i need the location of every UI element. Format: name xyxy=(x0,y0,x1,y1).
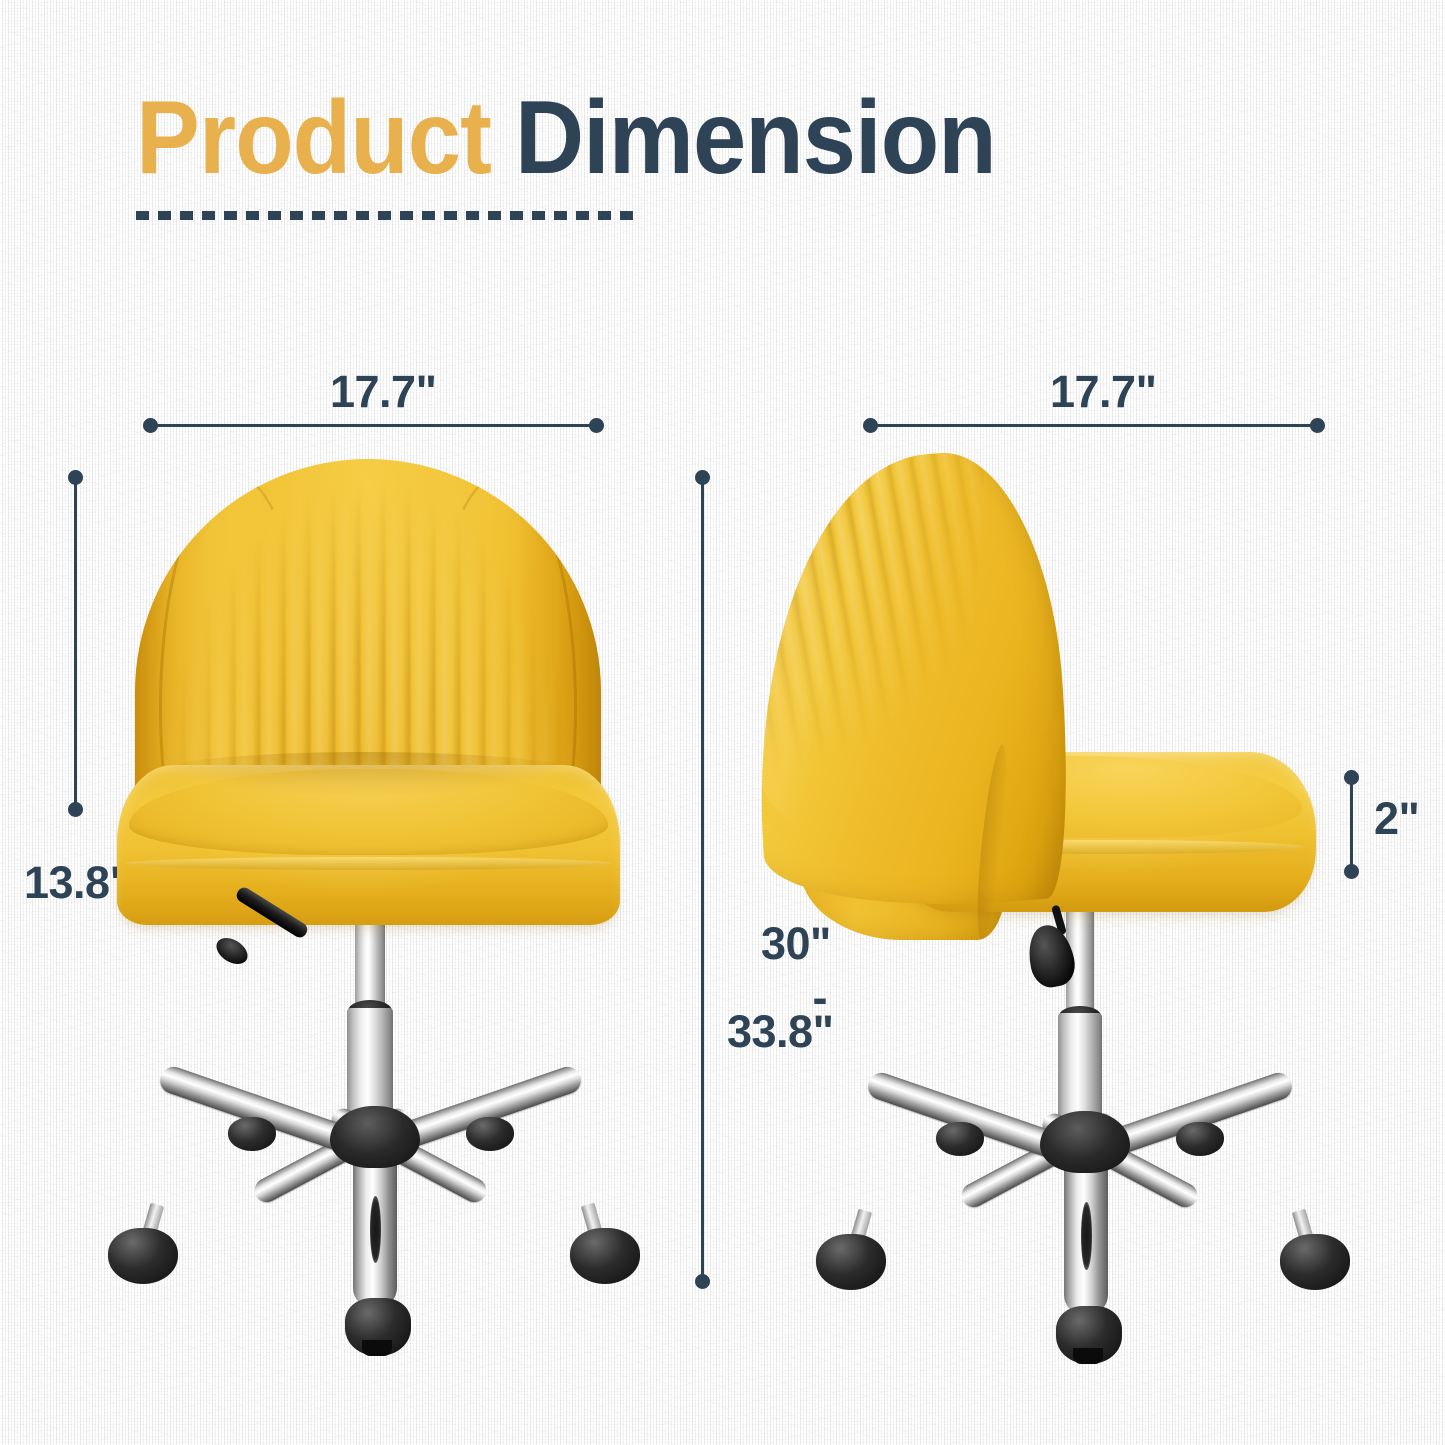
front-width-endpoint-right xyxy=(589,418,604,433)
front-width-dimension-line xyxy=(150,424,594,427)
side-cushion-dimension-line xyxy=(1350,777,1353,871)
side-caster-left xyxy=(816,1234,886,1290)
front-gas-cylinder xyxy=(347,1008,393,1120)
front-seat-height-endpoint-bottom xyxy=(68,802,83,817)
side-caster-rear-left xyxy=(936,1122,984,1156)
front-seat-contact-shadow xyxy=(150,752,580,796)
front-seat-height-label: 13.8" xyxy=(24,859,130,908)
front-base-hub xyxy=(330,1106,420,1168)
side-cushion-endpoint-top xyxy=(1344,770,1359,785)
front-seat-height-dimension-line xyxy=(74,477,77,809)
side-base-leg-front xyxy=(1064,1153,1108,1315)
side-caster-rear-right xyxy=(1176,1122,1224,1156)
side-height-endpoint-top xyxy=(695,470,710,485)
side-view-chair xyxy=(700,0,1445,1445)
side-gas-cylinder xyxy=(1058,1013,1102,1125)
side-height-label-max: 33.8" xyxy=(727,1008,827,1057)
front-caster-front-notch xyxy=(362,1340,392,1356)
side-height-dimension-line xyxy=(701,477,704,1281)
front-width-endpoint-left xyxy=(143,418,158,433)
side-base-hub xyxy=(1040,1111,1130,1173)
front-seat-welt xyxy=(125,857,612,870)
side-cushion-endpoint-bottom xyxy=(1344,864,1359,879)
side-depth-endpoint-left xyxy=(863,418,878,433)
front-caster-left xyxy=(108,1228,178,1284)
side-height-label-min: 30" xyxy=(761,920,827,969)
side-caster-front-notch xyxy=(1073,1348,1103,1364)
front-width-label: 17.7" xyxy=(330,368,436,417)
side-depth-label: 17.7" xyxy=(1050,368,1156,417)
front-caster-rear-right xyxy=(466,1117,514,1151)
side-backrest xyxy=(737,446,1078,919)
front-seat-height-endpoint-top xyxy=(68,470,83,485)
side-depth-dimension-line xyxy=(870,424,1315,427)
side-depth-endpoint-right xyxy=(1310,418,1325,433)
front-caster-rear-left xyxy=(228,1117,276,1151)
front-view-chair xyxy=(0,0,700,1445)
front-caster-right xyxy=(570,1228,640,1284)
side-cushion-label: 2" xyxy=(1374,795,1419,844)
front-lever-tip[interactable] xyxy=(212,933,252,970)
side-height-endpoint-bottom xyxy=(695,1274,710,1289)
side-caster-right xyxy=(1280,1234,1350,1290)
front-base-leg-front xyxy=(353,1148,397,1308)
